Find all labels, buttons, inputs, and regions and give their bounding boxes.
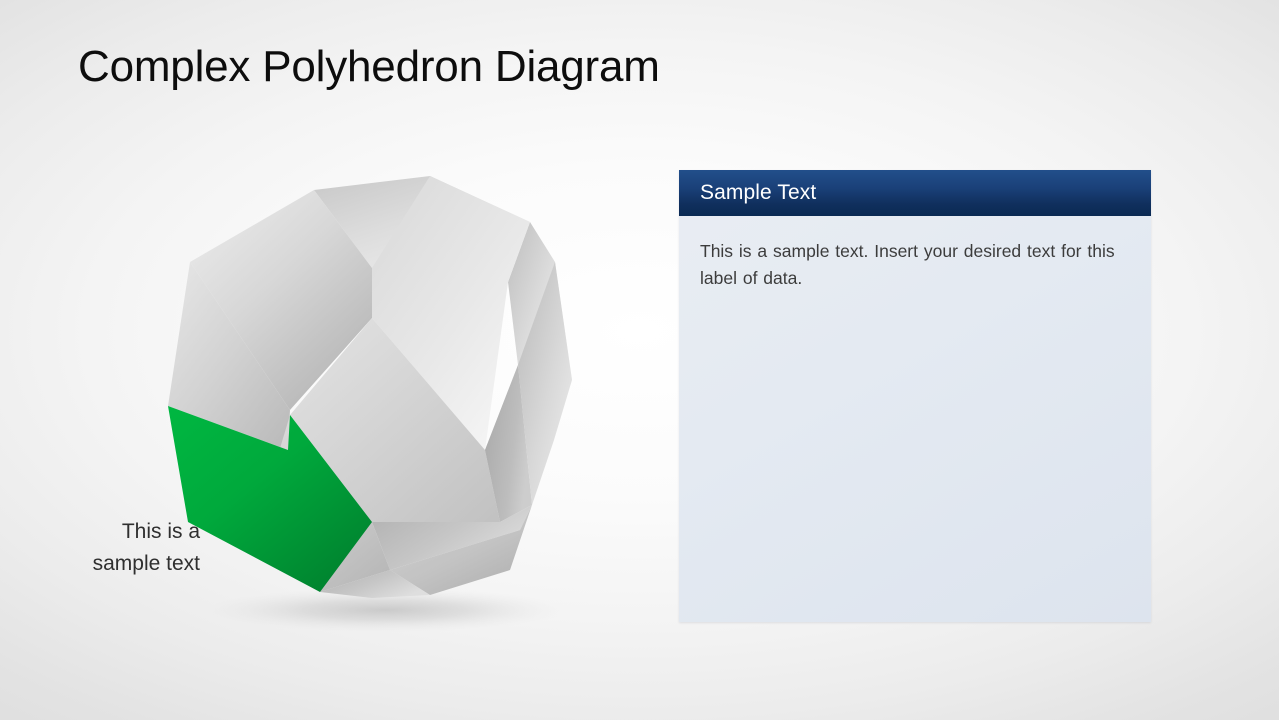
polyhedron-diagram (140, 150, 610, 640)
green-face-caption-line-1: This is a (40, 516, 200, 548)
info-panel-header: Sample Text (679, 170, 1151, 216)
green-face-caption-line-2: sample text (40, 548, 200, 580)
page-title: Complex Polyhedron Diagram (78, 38, 978, 96)
slide-canvas: Complex Polyhedron Diagram (0, 0, 1279, 720)
info-panel: Sample Text This is a sample text. Inser… (679, 170, 1151, 622)
green-face-caption: This is a sample text (40, 516, 200, 580)
info-panel-description: This is a sample text. Insert your desir… (700, 238, 1129, 292)
polyhedron-faces (168, 176, 572, 598)
info-panel-body: This is a sample text. Insert your desir… (679, 216, 1151, 292)
polyhedron-svg (140, 150, 610, 640)
info-panel-title: Sample Text (700, 170, 816, 216)
